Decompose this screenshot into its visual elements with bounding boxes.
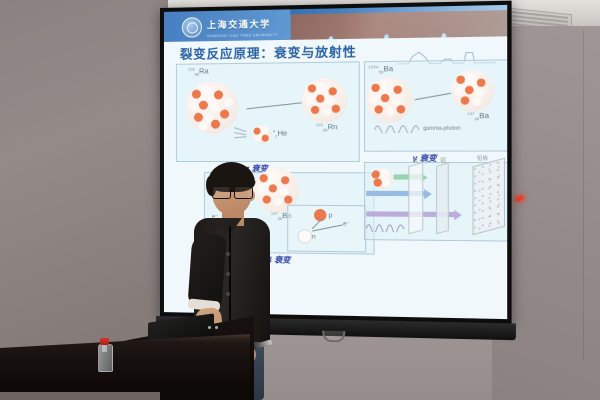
slide-header: 上海交通大学 SHANGHAI JIAO TONG UNIVERSITY [164,5,507,42]
label-inset-electron: e⁻ [343,221,350,229]
slide-title: 裂变反应原理：衰变与放射性 [180,41,357,63]
nucleus-source [370,168,393,189]
label-parent-ba-excited: 137m56Ba [368,65,393,75]
emission-lines-icon [234,126,254,140]
label-parent-ra: 22688Ra [188,67,209,76]
label-daughter-ba: 13756Ba [467,112,489,122]
nucleus-he [252,125,270,143]
bottle-neck [102,345,107,352]
nucleus-rn [302,78,348,123]
wall-seam [583,30,584,360]
laptop-indicator-icon [208,326,211,329]
gamma-source-wave-icon [366,218,406,233]
label-neutron: n [312,233,316,241]
bottle-cap [100,338,109,345]
laptop-indicator-icon-2 [215,326,218,329]
label-proton: p [329,212,333,220]
label-alpha-he: 42He [273,129,287,138]
label-barrier-paper: 纸 [413,158,419,165]
label-gamma-photon: gamma-photon [423,126,460,133]
floor [0,392,160,400]
barrier-paper [408,162,423,234]
nucleus-ba-excited [366,77,412,123]
barrier-aluminium [436,162,449,234]
ray-beta-head [424,189,431,199]
nucleus-ra [186,81,238,134]
university-logo: 上海交通大学 SHANGHAI JIAO TONG UNIVERSITY [182,14,278,39]
barrier-lead [473,157,506,235]
university-name-en: SHANGHAI JIAO TONG UNIVERSITY [207,34,278,39]
gamma-wave-icon [375,119,422,134]
water-bottle[interactable] [98,338,111,372]
shirt-placket [229,226,231,336]
glasses-icon [212,186,254,197]
university-name: 上海交通大学 [207,19,271,30]
lecture-hall-photo: 上海交通大学 SHANGHAI JIAO TONG UNIVERSITY 裂变反… [0,0,600,400]
neutron-dot [298,229,312,243]
presenter-sleeve [188,233,227,307]
label-barrier-aluminium: 铝 [440,158,446,165]
ray-gamma-head [454,210,462,220]
sjtu-seal-icon [182,17,202,37]
label-daughter-rn: 22286Rn [316,123,338,132]
nucleus-ba-ground [451,70,494,112]
label-barrier-lead: 铅板 [477,156,488,163]
